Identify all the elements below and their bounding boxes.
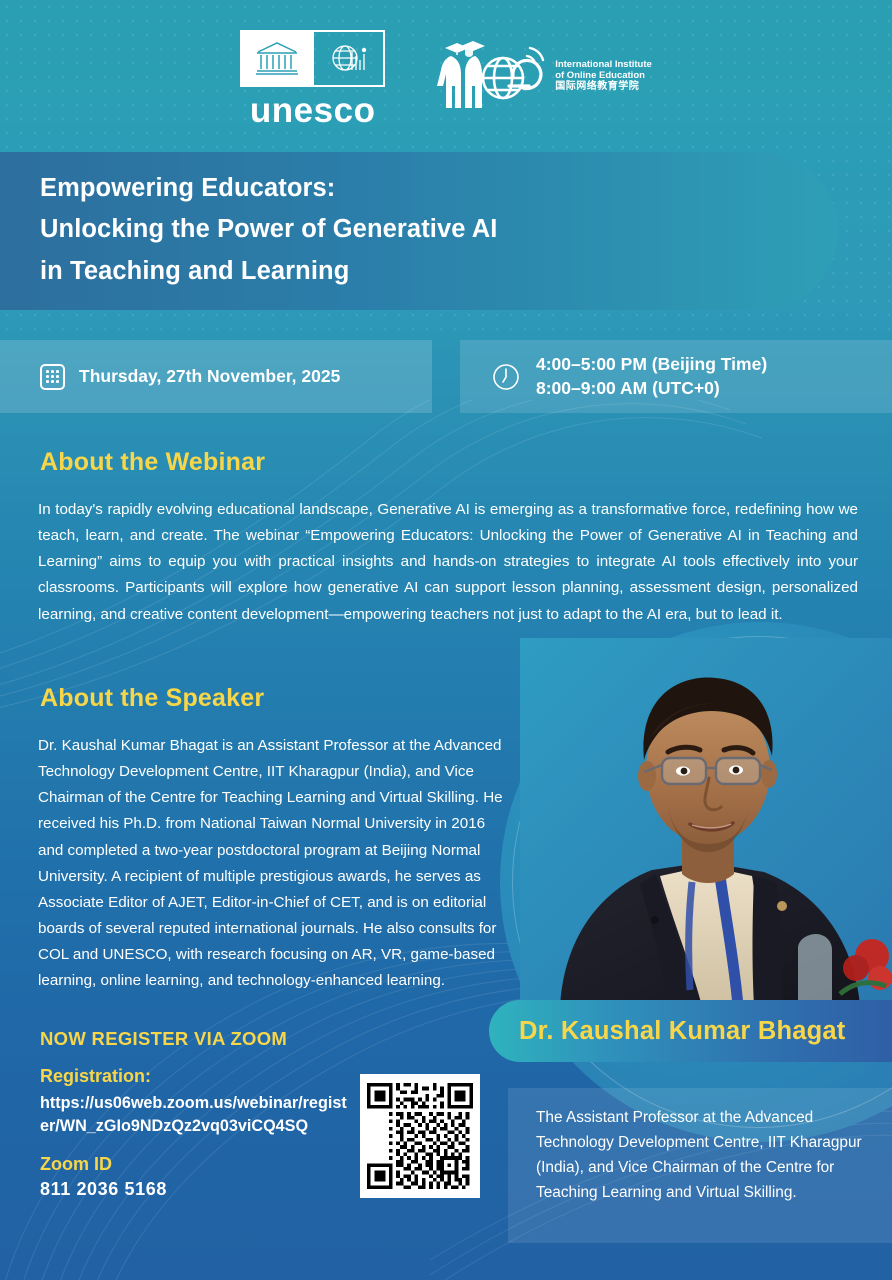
unesco-globe-icon xyxy=(312,32,384,85)
title-line-1: Empowering Educators: xyxy=(40,168,680,209)
iioe-logo-text: International Institute of Online Educat… xyxy=(555,59,652,93)
unesco-wordmark: unesco xyxy=(240,93,385,128)
registration-label: Registration: xyxy=(40,1066,151,1087)
event-date-bar: Thursday, 27th November, 2025 xyxy=(0,340,432,413)
page-title: Empowering Educators: Unlocking the Powe… xyxy=(40,168,680,292)
speaker-name: Dr. Kaushal Kumar Bhagat xyxy=(519,1017,845,1046)
event-time-beijing: 4:00–5:00 PM (Beijing Time) xyxy=(536,353,767,377)
event-time-utc: 8:00–9:00 AM (UTC+0) xyxy=(536,377,767,401)
about-webinar-body: In today's rapidly evolving educational … xyxy=(38,497,858,628)
speaker-blurb-box: The Assistant Professor at the Advanced … xyxy=(508,1088,892,1243)
calendar-icon xyxy=(40,364,65,390)
iioe-line-1: International Institute xyxy=(555,59,652,70)
about-speaker-body: Dr. Kaushal Kumar Bhagat is an Assistant… xyxy=(38,733,510,994)
about-webinar-heading: About the Webinar xyxy=(40,448,265,477)
iioe-line-3: 国际网络教育学院 xyxy=(555,81,652,93)
logo-row: unesco xyxy=(0,30,892,128)
iioe-line-2: of Online Education xyxy=(555,70,652,81)
register-heading: NOW REGISTER VIA ZOOM xyxy=(40,1028,287,1050)
title-line-2: Unlocking the Power of Generative AI xyxy=(40,209,680,250)
registration-qr-code[interactable] xyxy=(360,1074,480,1198)
clock-icon xyxy=(492,363,520,391)
event-time: 4:00–5:00 PM (Beijing Time) 8:00–9:00 AM… xyxy=(536,353,767,400)
webinar-poster: unesco xyxy=(0,0,892,1280)
iioe-logo: International Institute of Online Educat… xyxy=(431,34,652,118)
registration-url[interactable]: https://us06web.zoom.us/webinar/register… xyxy=(40,1092,350,1138)
unesco-logo: unesco xyxy=(240,30,385,128)
zoom-id-value: 811 2036 5168 xyxy=(40,1179,167,1200)
title-line-3: in Teaching and Learning xyxy=(40,251,680,292)
event-time-bar: 4:00–5:00 PM (Beijing Time) 8:00–9:00 AM… xyxy=(460,340,892,413)
speaker-name-banner: Dr. Kaushal Kumar Bhagat xyxy=(489,1000,892,1062)
iioe-mark-icon xyxy=(431,34,549,118)
qr-code-icon xyxy=(367,1081,473,1191)
speaker-photo xyxy=(520,638,892,1006)
zoom-id-label: Zoom ID xyxy=(40,1154,112,1175)
unesco-emblem xyxy=(240,30,385,87)
about-speaker-heading: About the Speaker xyxy=(40,684,264,713)
unesco-temple-icon xyxy=(242,32,312,85)
speaker-blurb: The Assistant Professor at the Advanced … xyxy=(536,1106,870,1206)
event-date: Thursday, 27th November, 2025 xyxy=(79,365,340,389)
